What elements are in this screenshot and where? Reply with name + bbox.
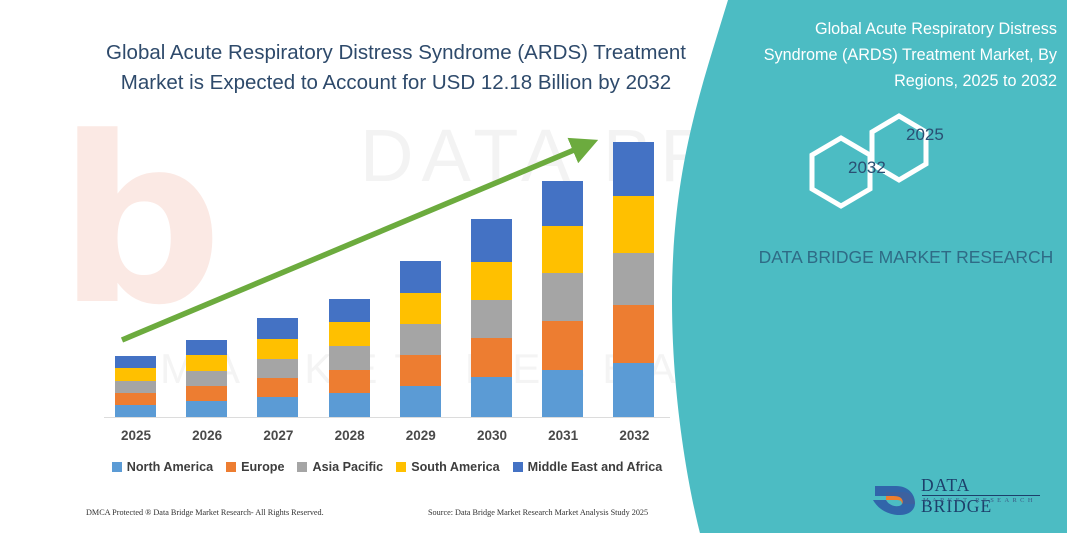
logo-subtitle: MARKET RESEARCH <box>923 497 1036 504</box>
stacked-bar-chart: 20252026202720282029203020312032 North A… <box>0 0 700 533</box>
legend-label: South America <box>411 460 499 474</box>
bar-segment <box>471 377 512 417</box>
bar-2025 <box>115 356 156 417</box>
bar-segment <box>329 322 370 346</box>
bar-2027 <box>257 318 298 417</box>
legend-swatch-icon <box>112 462 122 472</box>
bar-segment <box>186 355 227 371</box>
bar-segment <box>471 300 512 338</box>
bar-segment <box>115 381 156 393</box>
bar-segment <box>329 346 370 370</box>
bar-2026 <box>186 340 227 417</box>
x-axis-label-2031: 2031 <box>533 428 593 443</box>
legend-label: Europe <box>241 460 284 474</box>
legend-label: North America <box>127 460 213 474</box>
footer-source: Source: Data Bridge Market Research Mark… <box>428 508 648 517</box>
bar-segment <box>471 262 512 300</box>
x-axis-label-2026: 2026 <box>177 428 237 443</box>
legend-item[interactable]: Europe <box>226 460 284 474</box>
bar-segment <box>115 368 156 381</box>
bar-segment <box>400 261 441 293</box>
legend-label: Middle East and Africa <box>528 460 663 474</box>
panel-title: Global Acute Respiratory Distress Syndro… <box>755 16 1057 94</box>
bar-segment <box>400 324 441 355</box>
x-axis-label-2028: 2028 <box>320 428 380 443</box>
bar-2031 <box>542 181 583 417</box>
bar-segment <box>257 339 298 359</box>
bar-segment <box>257 359 298 378</box>
data-bridge-logo: DATA BRIDGE MARKET RESEARCH <box>868 472 1043 520</box>
growth-arrow <box>0 0 700 533</box>
hexagon-2032-label: 2032 <box>848 158 886 178</box>
bar-segment <box>186 401 227 417</box>
bar-segment <box>257 378 298 397</box>
x-axis-labels: 20252026202720282029203020312032 <box>104 428 670 450</box>
bar-2029 <box>400 261 441 417</box>
bar-segment <box>115 356 156 368</box>
bar-segment <box>542 226 583 273</box>
bar-segment <box>186 340 227 355</box>
bar-2028 <box>329 299 370 417</box>
legend-item[interactable]: North America <box>112 460 213 474</box>
hexagon-2025-label: 2025 <box>906 125 944 145</box>
x-axis-label-2032: 2032 <box>604 428 664 443</box>
legend-label: Asia Pacific <box>312 460 383 474</box>
bar-segment <box>613 253 654 305</box>
bar-segment <box>115 405 156 417</box>
bar-segment <box>329 370 370 393</box>
infographic-root: b DATA BRIDGE MARKET RESEARCH Global Acu… <box>0 0 1067 533</box>
legend-item[interactable]: South America <box>396 460 499 474</box>
footer-copyright: DMCA Protected ® Data Bridge Market Rese… <box>86 508 324 517</box>
bar-segment <box>542 321 583 370</box>
bar-segment <box>542 370 583 417</box>
legend-item[interactable]: Middle East and Africa <box>513 460 663 474</box>
bar-segment <box>329 393 370 417</box>
bar-segment <box>400 386 441 417</box>
bar-segment <box>613 142 654 196</box>
bar-segment <box>400 293 441 324</box>
bar-segment <box>257 397 298 417</box>
hexagon-pair <box>800 105 1040 215</box>
x-axis-label-2030: 2030 <box>462 428 522 443</box>
panel-brand-text: DATA BRIDGE MARKET RESEARCH <box>756 243 1056 271</box>
bar-2032 <box>613 142 654 417</box>
bar-segment <box>613 363 654 417</box>
bar-segment <box>613 305 654 363</box>
legend-item[interactable]: Asia Pacific <box>297 460 383 474</box>
panel-content: Global Acute Respiratory Distress Syndro… <box>745 0 1067 533</box>
x-axis-label-2027: 2027 <box>248 428 308 443</box>
logo-name: DATA BRIDGE <box>921 475 1043 517</box>
legend-swatch-icon <box>297 462 307 472</box>
bar-segment <box>186 386 227 401</box>
bar-segment <box>400 355 441 386</box>
bar-segment <box>613 196 654 253</box>
bar-2030 <box>471 219 512 417</box>
logo-b-mark-icon <box>868 472 918 516</box>
chart-legend: North AmericaEuropeAsia PacificSouth Ame… <box>104 460 670 474</box>
x-axis-label-2025: 2025 <box>106 428 166 443</box>
logo-divider <box>922 495 1040 496</box>
bar-segment <box>329 299 370 322</box>
legend-swatch-icon <box>396 462 406 472</box>
legend-swatch-icon <box>226 462 236 472</box>
bar-segment <box>471 219 512 262</box>
legend-swatch-icon <box>513 462 523 472</box>
bar-segment <box>471 338 512 377</box>
bar-segment <box>542 181 583 226</box>
bar-segment <box>115 393 156 405</box>
bar-segment <box>257 318 298 339</box>
bar-segment <box>186 371 227 386</box>
x-axis-label-2029: 2029 <box>391 428 451 443</box>
bar-segment <box>542 273 583 321</box>
